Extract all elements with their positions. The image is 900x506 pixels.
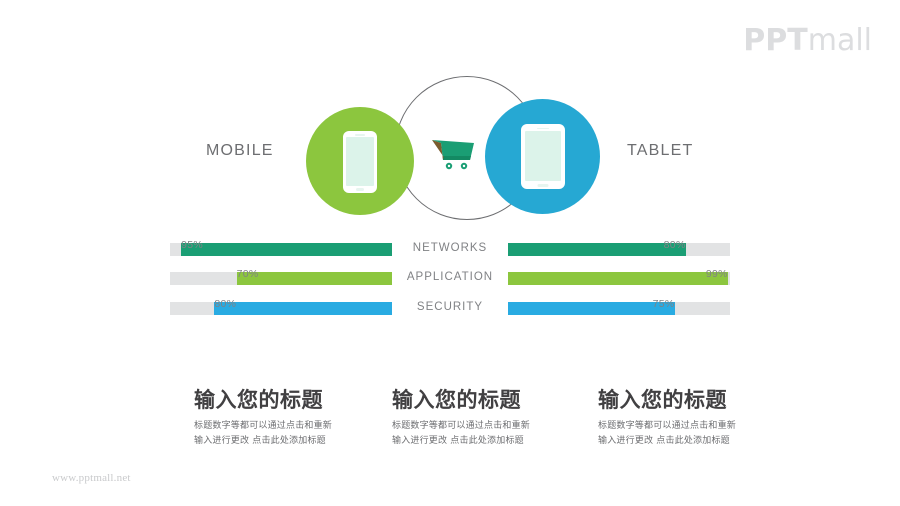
logo-text-mall: mall xyxy=(808,23,872,58)
mobile-bar-value: 70% xyxy=(237,269,259,280)
phone-speaker xyxy=(355,134,365,136)
shopping-cart-icon xyxy=(430,134,476,174)
text-column: 输入您的标题 标题数字等都可以通过点击和重新 输入进行更改 点击此处添加标题 xyxy=(598,388,808,449)
column-body-line: 输入进行更改 点击此处添加标题 xyxy=(392,434,602,449)
venn-diagram: MOBILE TABLET xyxy=(0,74,900,224)
mobile-bar-fill xyxy=(237,272,392,285)
tablet-speaker xyxy=(537,128,549,130)
tablet-bar-track: 75% xyxy=(508,302,730,315)
tablet-bar-fill xyxy=(508,243,686,256)
mobile-bar-fill xyxy=(181,243,392,256)
column-body: 标题数字等都可以通过点击和重新 输入进行更改 点击此处添加标题 xyxy=(598,419,808,449)
tablet-screen xyxy=(525,131,561,181)
phone-screen xyxy=(346,137,374,186)
column-body: 标题数字等都可以通过点击和重新 输入进行更改 点击此处添加标题 xyxy=(194,419,404,449)
venn-label-mobile: MOBILE xyxy=(206,142,274,160)
tablet-bar-track: 80% xyxy=(508,243,730,256)
mobile-bar-track: 70% xyxy=(170,272,392,285)
mobile-bar-value: 80% xyxy=(214,299,236,310)
column-body-line: 输入进行更改 点击此处添加标题 xyxy=(598,434,808,449)
column-body-line: 标题数字等都可以通过点击和重新 xyxy=(392,419,602,434)
column-body-line: 标题数字等都可以通过点击和重新 xyxy=(194,419,404,434)
bar-category-label: APPLICATION xyxy=(392,271,508,283)
column-title: 输入您的标题 xyxy=(194,388,404,412)
tablet-bar-value: 75% xyxy=(653,299,675,310)
bar-row: 70% APPLICATION 99% xyxy=(0,261,900,285)
text-column: 输入您的标题 标题数字等都可以通过点击和重新 输入进行更改 点击此处添加标题 xyxy=(392,388,602,449)
tablet-bar-fill xyxy=(508,302,675,315)
text-columns: 输入您的标题 标题数字等都可以通过点击和重新 输入进行更改 点击此处添加标题 输… xyxy=(0,388,900,468)
tablet-bar-value: 80% xyxy=(664,240,686,251)
venn-label-tablet: TABLET xyxy=(627,142,693,160)
comparison-bar-chart: 95% NETWORKS 80% 70% APPLICATION 99% 80%… xyxy=(0,232,900,324)
column-title: 输入您的标题 xyxy=(392,388,602,412)
smartphone-icon xyxy=(343,131,377,193)
phone-home-button xyxy=(356,188,364,191)
column-body: 标题数字等都可以通过点击和重新 输入进行更改 点击此处添加标题 xyxy=(392,419,602,449)
mobile-bar-value: 95% xyxy=(181,240,203,251)
mobile-bar-fill xyxy=(214,302,392,315)
text-column: 输入您的标题 标题数字等都可以通过点击和重新 输入进行更改 点击此处添加标题 xyxy=(194,388,404,449)
bar-category-label: SECURITY xyxy=(392,301,508,313)
tablet-home-button xyxy=(538,184,549,187)
bar-category-label: NETWORKS xyxy=(392,242,508,254)
column-body-line: 标题数字等都可以通过点击和重新 xyxy=(598,419,808,434)
bar-row: 80% SECURITY 75% xyxy=(0,291,900,315)
footer-url: www.pptmall.net xyxy=(52,472,131,484)
column-title: 输入您的标题 xyxy=(598,388,808,412)
tablet-bar-track: 99% xyxy=(508,272,730,285)
mobile-bar-track: 80% xyxy=(170,302,392,315)
mobile-bar-track: 95% xyxy=(170,243,392,256)
pptmall-logo: PPTmall xyxy=(743,26,872,56)
column-body-line: 输入进行更改 点击此处添加标题 xyxy=(194,434,404,449)
tablet-icon xyxy=(521,124,565,189)
tablet-bar-fill xyxy=(508,272,728,285)
bar-row: 95% NETWORKS 80% xyxy=(0,232,900,256)
tablet-bar-value: 99% xyxy=(706,269,728,280)
logo-text-ppt: PPT xyxy=(743,23,807,58)
